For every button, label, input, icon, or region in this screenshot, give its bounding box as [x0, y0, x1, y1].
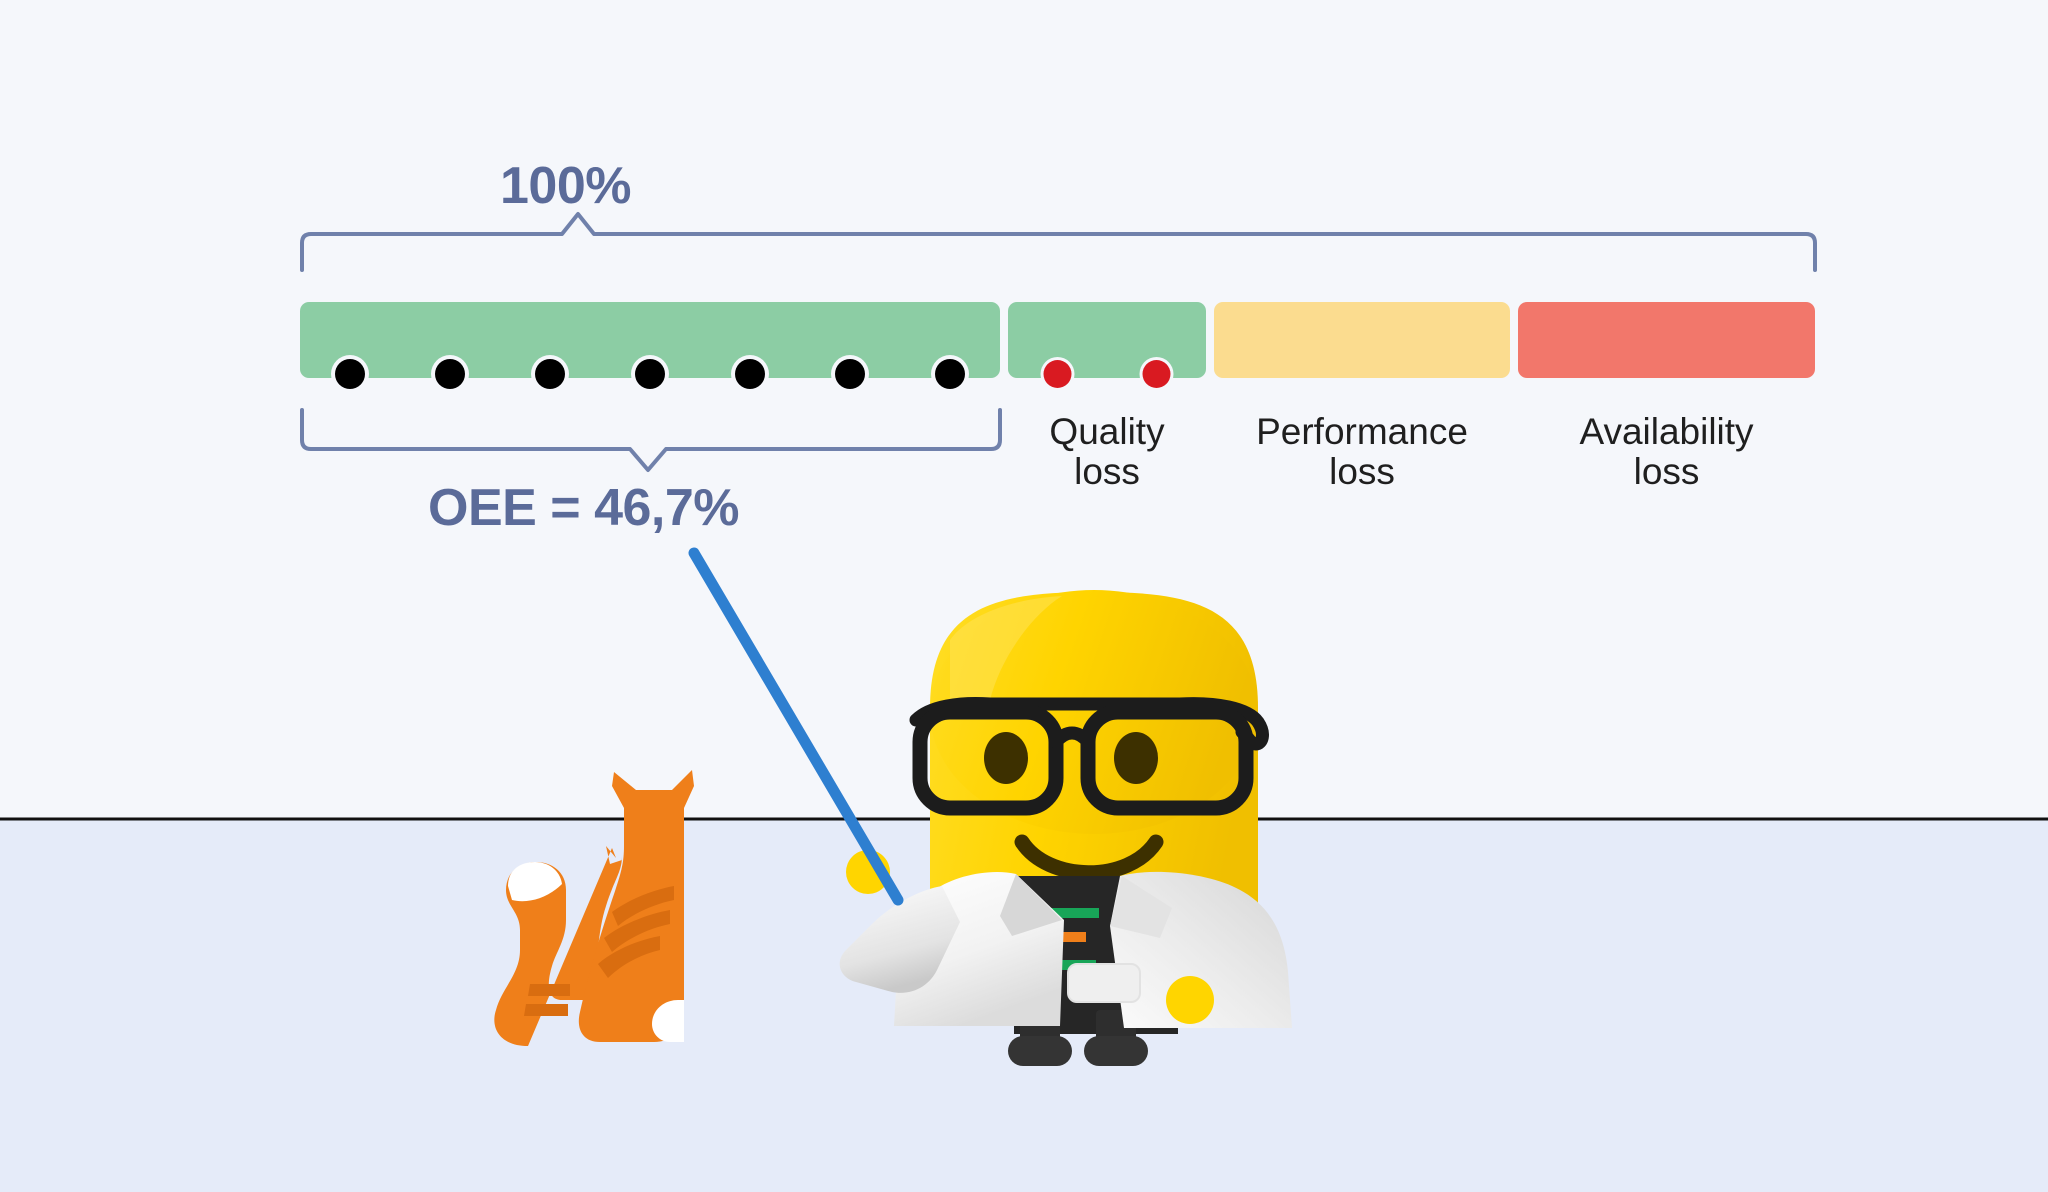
hand-right [1166, 976, 1214, 1024]
mascot-illustration [0, 0, 2048, 1192]
illustration-canvas: 100% OEE = 46,7% Quality loss Performanc… [0, 0, 2048, 1192]
scientist-character [840, 590, 1292, 1066]
eye-left [984, 732, 1028, 784]
eye-right [1114, 732, 1158, 784]
pointer-stick[interactable] [694, 553, 898, 900]
cat-illustration [494, 770, 694, 1046]
coat-pocket [1068, 964, 1140, 1002]
